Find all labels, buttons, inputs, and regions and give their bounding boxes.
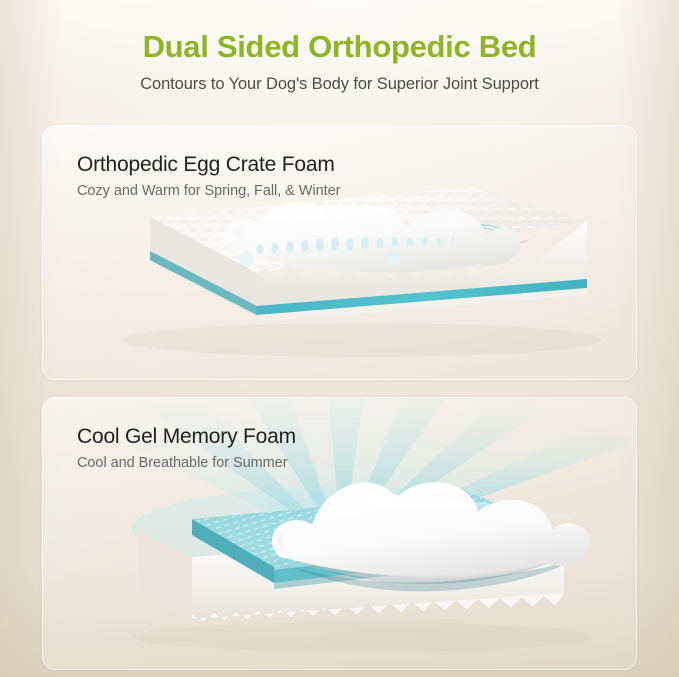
page-subtitle: Contours to Your Dog's Body for Superior…	[0, 75, 679, 94]
feature-card-cool-gel-memory-foam: Cool Gel Memory Foam Cool and Breathable…	[42, 397, 637, 670]
feature-card-egg-crate-foam: Orthopedic Egg Crate Foam Cozy and Warm …	[42, 125, 637, 380]
card-title-cool-gel: Cool Gel Memory Foam	[77, 425, 296, 449]
card-heading-group-egg-crate: Orthopedic Egg Crate Foam Cozy and Warm …	[77, 153, 340, 199]
card-title-egg-crate: Orthopedic Egg Crate Foam	[77, 153, 340, 177]
page-title: Dual Sided Orthopedic Bed	[0, 29, 679, 65]
page-header: Dual Sided Orthopedic Bed Contours to Yo…	[0, 0, 679, 94]
card-heading-group-cool-gel: Cool Gel Memory Foam Cool and Breathable…	[77, 425, 296, 471]
card-subtitle-egg-crate: Cozy and Warm for Spring, Fall, & Winter	[77, 183, 340, 199]
card-subtitle-cool-gel: Cool and Breathable for Summer	[77, 455, 296, 471]
